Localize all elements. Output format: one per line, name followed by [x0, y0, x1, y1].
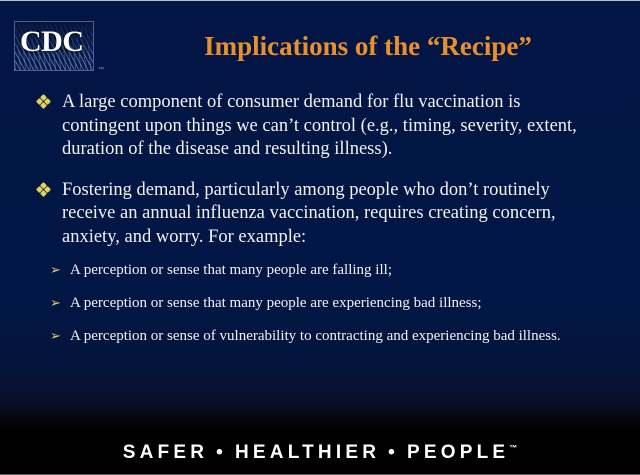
- sub-bullet-item: ➢ A perception or sense that many people…: [44, 261, 640, 280]
- bullet-item: Fostering demand, particularly among peo…: [26, 179, 598, 250]
- footer-trademark: ™: [509, 444, 517, 453]
- presentation-slide: CDC ™ Implications of the “Recipe” A lar…: [0, 0, 640, 475]
- bullet-list-level2: ➢ A perception or sense that many people…: [38, 261, 640, 346]
- sub-bullet-item: ➢ A perception or sense of vulnerability…: [44, 327, 640, 346]
- cdc-logo-frame: CDC: [14, 21, 94, 71]
- slide-header: CDC ™ Implications of the “Recipe”: [0, 1, 640, 89]
- slide-title: Implications of the “Recipe”: [118, 31, 618, 62]
- bullet-item: A large component of consumer demand for…: [26, 91, 598, 162]
- cdc-logo-trademark: ™: [98, 67, 104, 73]
- bullet-text: A large component of consumer demand for…: [62, 92, 577, 159]
- slide-body: A large component of consumer demand for…: [0, 91, 640, 346]
- footer-tagline: SAFER • HEALTHIER • PEOPLE™: [0, 442, 640, 464]
- diamond-bullet-icon: [37, 95, 50, 108]
- arrow-bullet-icon: ➢: [50, 263, 61, 278]
- sub-bullet-container: ➢ A perception or sense that many people…: [38, 261, 640, 346]
- slide-footer: SAFER • HEALTHIER • PEOPLE™: [0, 429, 640, 475]
- sub-bullet-text: A perception or sense that many people a…: [70, 295, 482, 311]
- diamond-bullet-icon: [37, 183, 50, 196]
- cdc-logo-text: CDC: [20, 25, 84, 59]
- footer-tagline-text: SAFER • HEALTHIER • PEOPLE: [123, 442, 510, 463]
- bullet-text: Fostering demand, particularly among peo…: [62, 180, 556, 247]
- arrow-bullet-icon: ➢: [50, 329, 61, 344]
- sub-bullet-item: ➢ A perception or sense that many people…: [44, 294, 640, 313]
- sub-bullet-text: A perception or sense of vulnerability t…: [70, 328, 561, 344]
- bullet-list-level1: A large component of consumer demand for…: [0, 91, 640, 249]
- arrow-bullet-icon: ➢: [50, 296, 61, 311]
- cdc-logo: CDC ™: [14, 21, 94, 71]
- sub-bullet-text: A perception or sense that many people a…: [70, 262, 392, 278]
